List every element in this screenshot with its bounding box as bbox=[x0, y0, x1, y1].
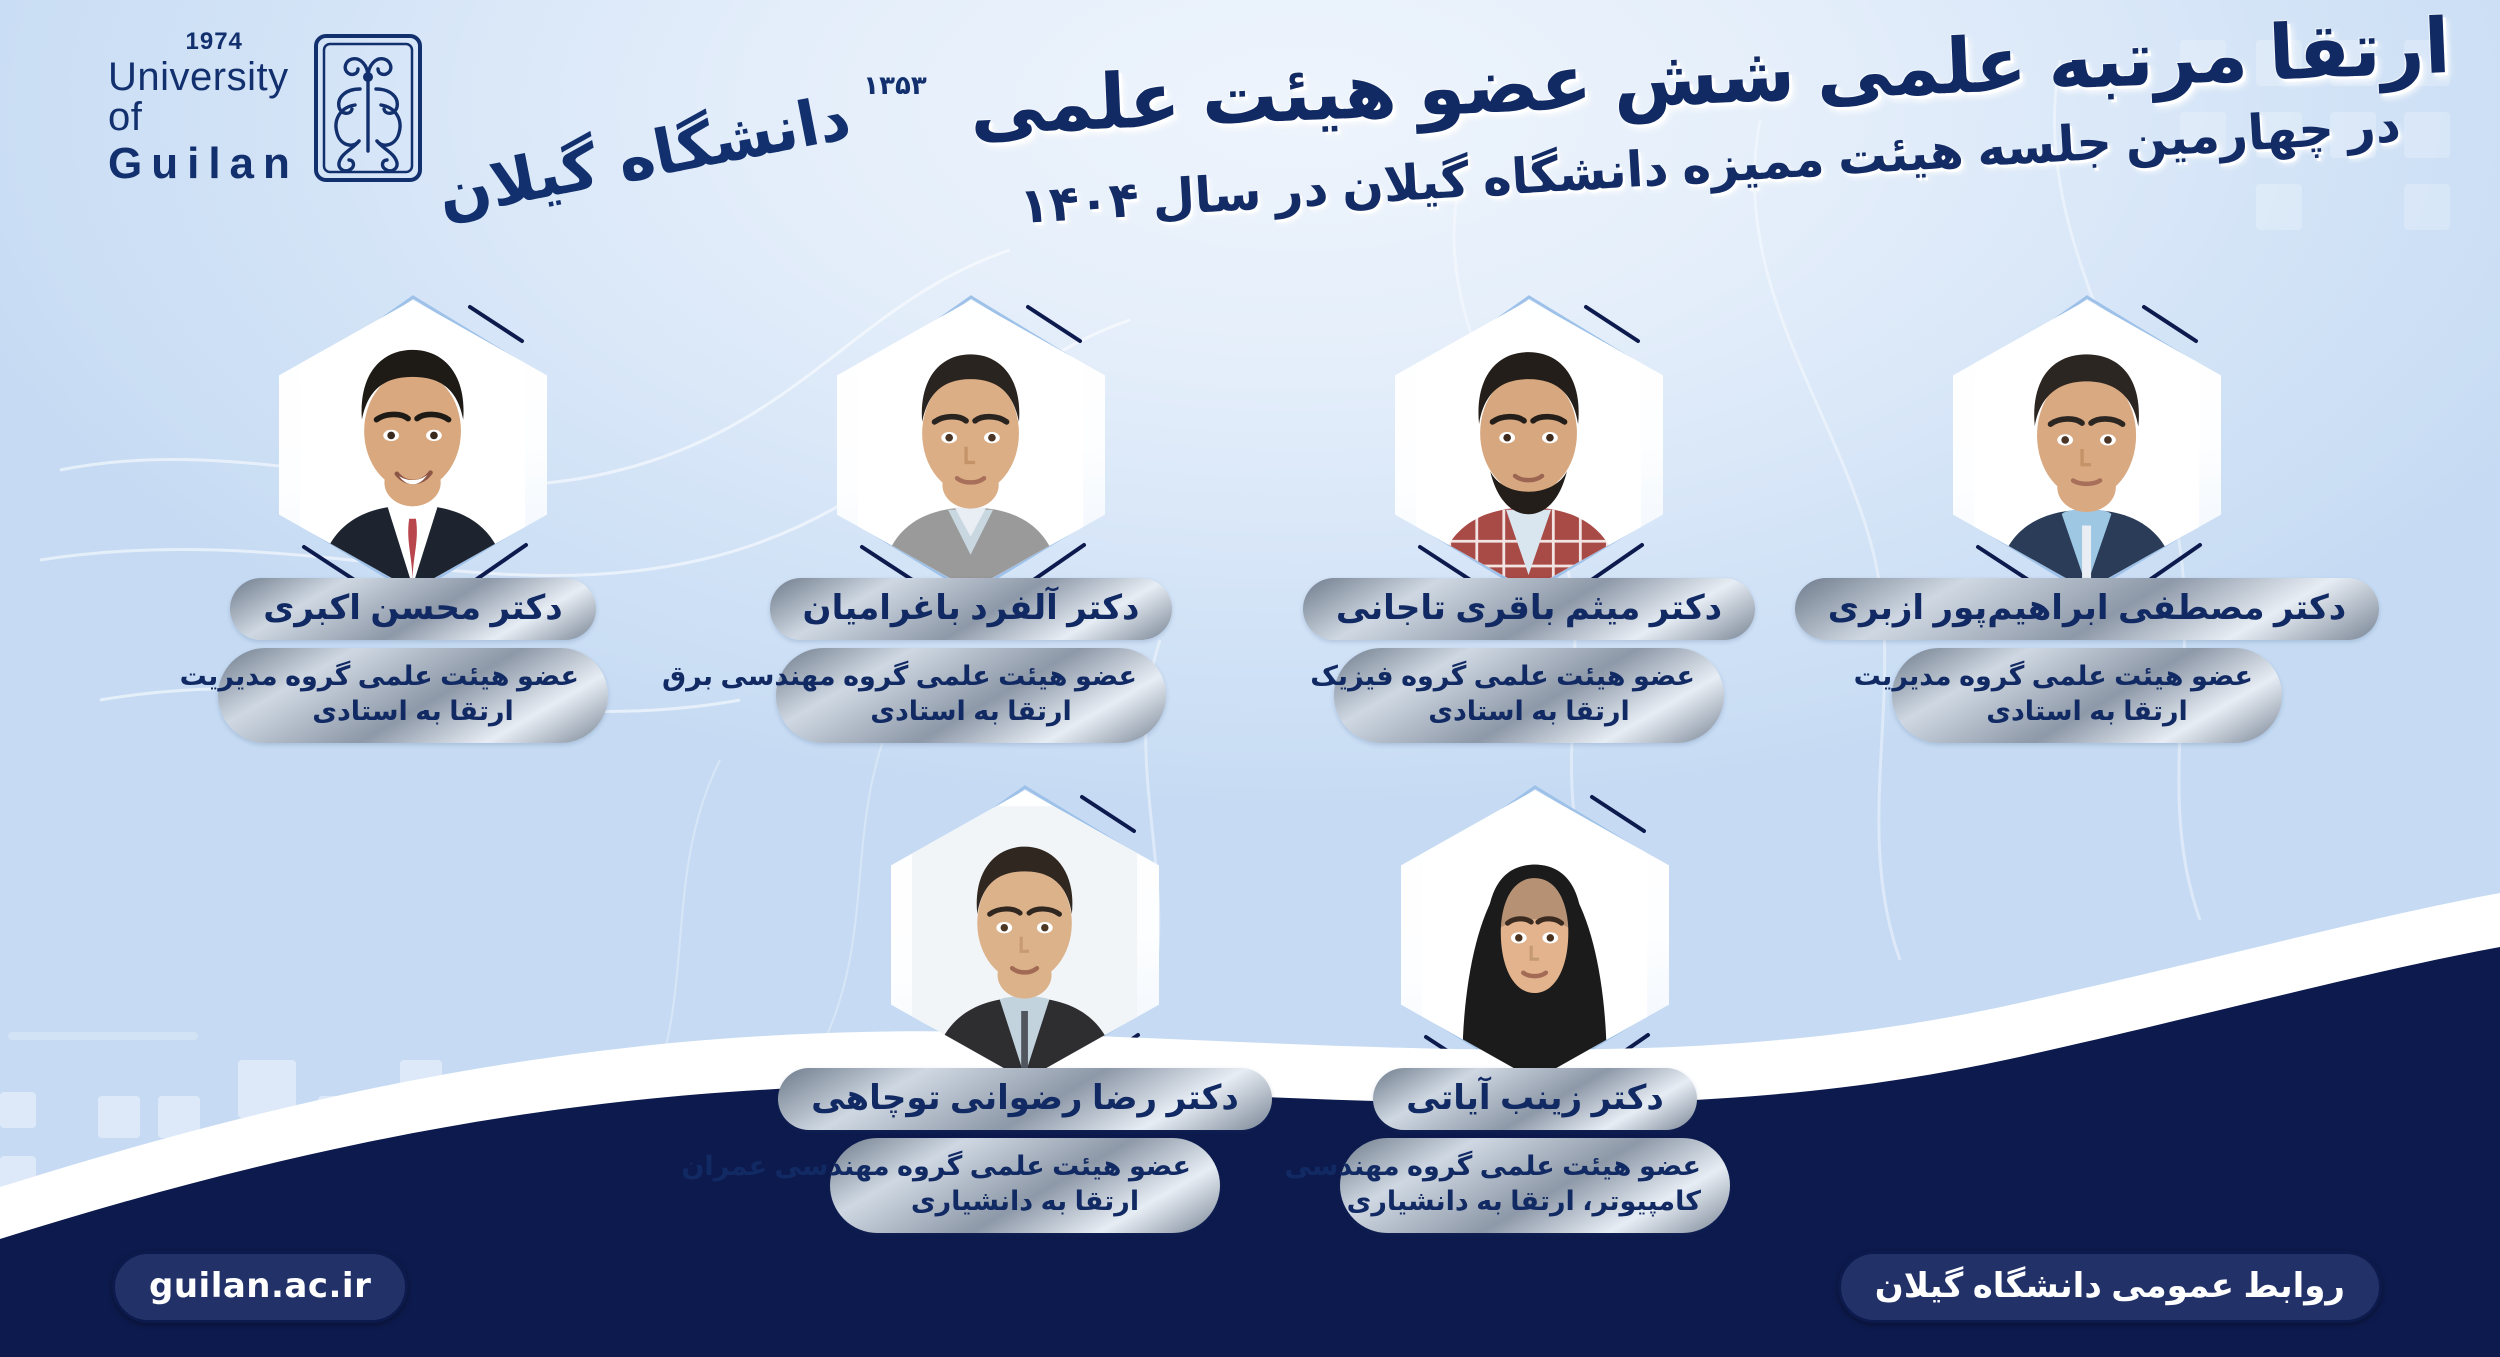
person-name: دکتر میثم باقری تاجانی bbox=[1303, 578, 1755, 640]
department-line-1: عضو هیئت علمی گروه مهندسی برق bbox=[805, 659, 1137, 694]
department-line-2: کامپیوتر، ارتقا به دانشیاری bbox=[1369, 1184, 1701, 1219]
department-line-2: ارتقا به دانشیاری bbox=[859, 1184, 1191, 1219]
person-department: عضو هیئت علمی گروه مهندسی کامپیوتر، ارتق… bbox=[1340, 1138, 1730, 1233]
logo-university-of: University of bbox=[108, 57, 299, 137]
person-department: عضو هیئت علمی گروه مدیریت ارتقا به استاد… bbox=[1892, 648, 2282, 743]
department-line-1: عضو هیئت علمی گروه فیزیک bbox=[1363, 659, 1695, 694]
people-row-top: دکتر مصطفی ابراهیم‌پور ازبری عضو هیئت عل… bbox=[0, 300, 2500, 743]
department-line-1: عضو هیئت علمی گروه مدیریت bbox=[247, 659, 579, 694]
person-department: عضو هیئت علمی گروه مهندسی عمران ارتقا به… bbox=[830, 1138, 1220, 1233]
logo-persian-text: ۱۳۵۳ دانشگاه گیلان bbox=[437, 70, 927, 147]
department-line-1: عضو هیئت علمی گروه مهندسی bbox=[1369, 1149, 1701, 1184]
person-department: عضو هیئت علمی گروه مهندسی برق ارتقا به ا… bbox=[776, 648, 1166, 743]
department-line-1: عضو هیئت علمی گروه مدیریت bbox=[1921, 659, 2253, 694]
department-line-2: ارتقا به استادی bbox=[805, 694, 1137, 729]
person-name: دکتر آلفرد باغرامیان bbox=[770, 578, 1173, 640]
public-relations-label: روابط عمومی دانشگاه گیلان bbox=[1838, 1251, 2382, 1323]
person-card[interactable]: دکتر میثم باقری تاجانی عضو هیئت علمی گرو… bbox=[1319, 300, 1739, 743]
person-name: دکتر زینب آیاتی bbox=[1373, 1068, 1697, 1130]
guilan-university-emblem-icon bbox=[313, 33, 423, 183]
portrait-hex-frame bbox=[1953, 300, 2221, 590]
portrait-hex-frame bbox=[279, 300, 547, 590]
portrait-hex-frame bbox=[1395, 300, 1663, 590]
person-card[interactable]: دکتر آلفرد باغرامیان عضو هیئت علمی گروه … bbox=[761, 300, 1181, 743]
portrait-hex-frame bbox=[837, 300, 1105, 590]
department-line-1: عضو هیئت علمی گروه مهندسی عمران bbox=[859, 1149, 1191, 1184]
person-card[interactable]: دکتر محسن اکبری عضو هیئت علمی گروه مدیری… bbox=[203, 300, 623, 743]
header-titles: ارتقا مرتبه علمی شش عضو هیئت علمی در چها… bbox=[960, 30, 2460, 199]
logo-founding-year-en: 1974 bbox=[186, 30, 243, 54]
person-department: عضو هیئت علمی گروه مدیریت ارتقا به استاد… bbox=[218, 648, 608, 743]
poster-canvas: 1974 University of Guilan ۱۳۵۳ دانشگ bbox=[0, 0, 2500, 1357]
logo-english-text: 1974 University of Guilan bbox=[108, 30, 299, 186]
logo-university-name-fa: دانشگاه گیلان bbox=[433, 86, 855, 227]
person-name: دکتر رضا رضوانی توچاهی bbox=[778, 1068, 1272, 1130]
person-card[interactable]: دکتر مصطفی ابراهیم‌پور ازبری عضو هیئت عل… bbox=[1877, 300, 2297, 743]
department-line-2: ارتقا به استادی bbox=[1921, 694, 2253, 729]
website-button[interactable]: guilan.ac.ir bbox=[112, 1251, 408, 1323]
university-logo: 1974 University of Guilan ۱۳۵۳ دانشگ bbox=[108, 28, 808, 188]
logo-founding-year-fa: ۱۳۵۳ bbox=[863, 70, 926, 101]
person-name: دکتر محسن اکبری bbox=[230, 578, 596, 640]
department-line-2: ارتقا به استادی bbox=[1363, 694, 1695, 729]
logo-guilan: Guilan bbox=[108, 142, 299, 186]
person-department: عضو هیئت علمی گروه فیزیک ارتقا به استادی bbox=[1334, 648, 1724, 743]
department-line-2: ارتقا به استادی bbox=[247, 694, 579, 729]
person-name: دکتر مصطفی ابراهیم‌پور ازبری bbox=[1795, 578, 2379, 640]
